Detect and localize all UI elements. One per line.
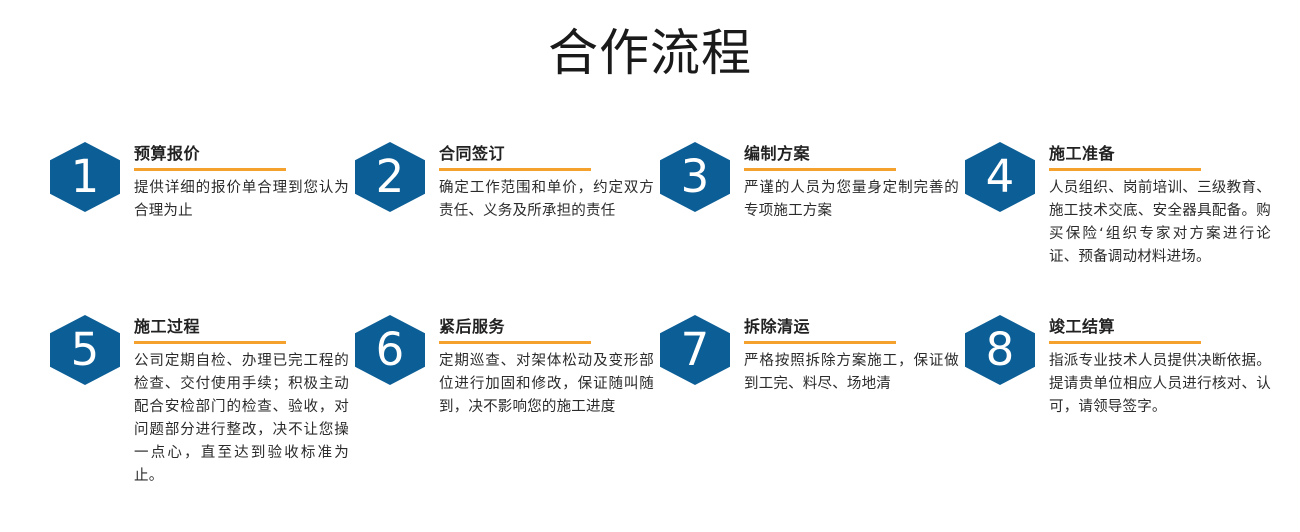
step-hexagon-badge: 7: [660, 315, 730, 385]
steps-grid: 1 预算报价 提供详细的报价单合理到您认为合理为止 2 合同签订 确定工作范围和…: [0, 130, 1300, 530]
step-title: 施工过程: [134, 317, 349, 337]
step-item-3: 3 编制方案 严谨的人员为您量身定制完善的专项施工方案: [660, 142, 959, 223]
step-text-block: 编制方案 严谨的人员为您量身定制完善的专项施工方案: [744, 142, 959, 223]
step-hexagon-badge: 2: [355, 142, 425, 212]
step-underline-rule: [134, 341, 286, 344]
step-item-6: 6 紧后服务 定期巡查、对架体松动及变形部位进行加固和修改，保证随叫随到，决不影…: [355, 315, 654, 419]
step-description: 严谨的人员为您量身定制完善的专项施工方案: [744, 177, 959, 223]
step-description: 定期巡查、对架体松动及变形部位进行加固和修改，保证随叫随到，决不影响您的施工进度: [439, 350, 654, 419]
step-item-8: 8 竣工结算 指派专业技术人员提供决断依据。提请贵单位相应人员进行核对、认可，请…: [965, 315, 1271, 419]
step-number: 1: [50, 142, 120, 212]
step-hexagon-badge: 5: [50, 315, 120, 385]
step-hexagon-badge: 8: [965, 315, 1035, 385]
step-underline-rule: [744, 168, 896, 171]
step-title: 紧后服务: [439, 317, 654, 337]
step-number: 7: [660, 315, 730, 385]
step-title: 竣工结算: [1049, 317, 1271, 337]
step-underline-rule: [744, 341, 896, 344]
step-description: 确定工作范围和单价，约定双方责任、义务及所承担的责任: [439, 177, 654, 223]
step-title: 编制方案: [744, 144, 959, 164]
step-number: 5: [50, 315, 120, 385]
step-description: 公司定期自检、办理已完工程的检查、交付使用手续；积极主动配合安检部门的检查、验收…: [134, 350, 349, 488]
step-number: 6: [355, 315, 425, 385]
step-description: 指派专业技术人员提供决断依据。提请贵单位相应人员进行核对、认可，请领导签字。: [1049, 350, 1271, 419]
step-title: 预算报价: [134, 144, 349, 164]
step-hexagon-badge: 4: [965, 142, 1035, 212]
step-number: 2: [355, 142, 425, 212]
step-item-7: 7 拆除清运 严格按照拆除方案施工，保证做到工完、料尽、场地清: [660, 315, 959, 396]
step-text-block: 合同签订 确定工作范围和单价，约定双方责任、义务及所承担的责任: [439, 142, 654, 223]
step-item-5: 5 施工过程 公司定期自检、办理已完工程的检查、交付使用手续；积极主动配合安检部…: [50, 315, 349, 488]
step-title: 合同签订: [439, 144, 654, 164]
step-text-block: 施工过程 公司定期自检、办理已完工程的检查、交付使用手续；积极主动配合安检部门的…: [134, 315, 349, 488]
step-hexagon-badge: 3: [660, 142, 730, 212]
step-underline-rule: [1049, 168, 1201, 171]
step-description: 严格按照拆除方案施工，保证做到工完、料尽、场地清: [744, 350, 959, 396]
step-text-block: 紧后服务 定期巡查、对架体松动及变形部位进行加固和修改，保证随叫随到，决不影响您…: [439, 315, 654, 419]
step-title: 拆除清运: [744, 317, 959, 337]
step-number: 8: [965, 315, 1035, 385]
step-underline-rule: [134, 168, 286, 171]
step-number: 4: [965, 142, 1035, 212]
step-text-block: 预算报价 提供详细的报价单合理到您认为合理为止: [134, 142, 349, 223]
step-text-block: 施工准备 人员组织、岗前培训、三级教育、施工技术交底、安全器具配备。购买保险‘组…: [1049, 142, 1271, 269]
step-item-2: 2 合同签订 确定工作范围和单价，约定双方责任、义务及所承担的责任: [355, 142, 654, 223]
step-description: 人员组织、岗前培训、三级教育、施工技术交底、安全器具配备。购买保险‘组织专家对方…: [1049, 177, 1271, 269]
step-underline-rule: [439, 341, 591, 344]
step-item-1: 1 预算报价 提供详细的报价单合理到您认为合理为止: [50, 142, 349, 223]
step-description: 提供详细的报价单合理到您认为合理为止: [134, 177, 349, 223]
page-title: 合作流程: [0, 22, 1300, 84]
step-underline-rule: [1049, 341, 1201, 344]
step-underline-rule: [439, 168, 591, 171]
step-text-block: 拆除清运 严格按照拆除方案施工，保证做到工完、料尽、场地清: [744, 315, 959, 396]
step-hexagon-badge: 1: [50, 142, 120, 212]
step-text-block: 竣工结算 指派专业技术人员提供决断依据。提请贵单位相应人员进行核对、认可，请领导…: [1049, 315, 1271, 419]
step-number: 3: [660, 142, 730, 212]
step-item-4: 4 施工准备 人员组织、岗前培训、三级教育、施工技术交底、安全器具配备。购买保险…: [965, 142, 1271, 269]
step-hexagon-badge: 6: [355, 315, 425, 385]
step-title: 施工准备: [1049, 144, 1271, 164]
